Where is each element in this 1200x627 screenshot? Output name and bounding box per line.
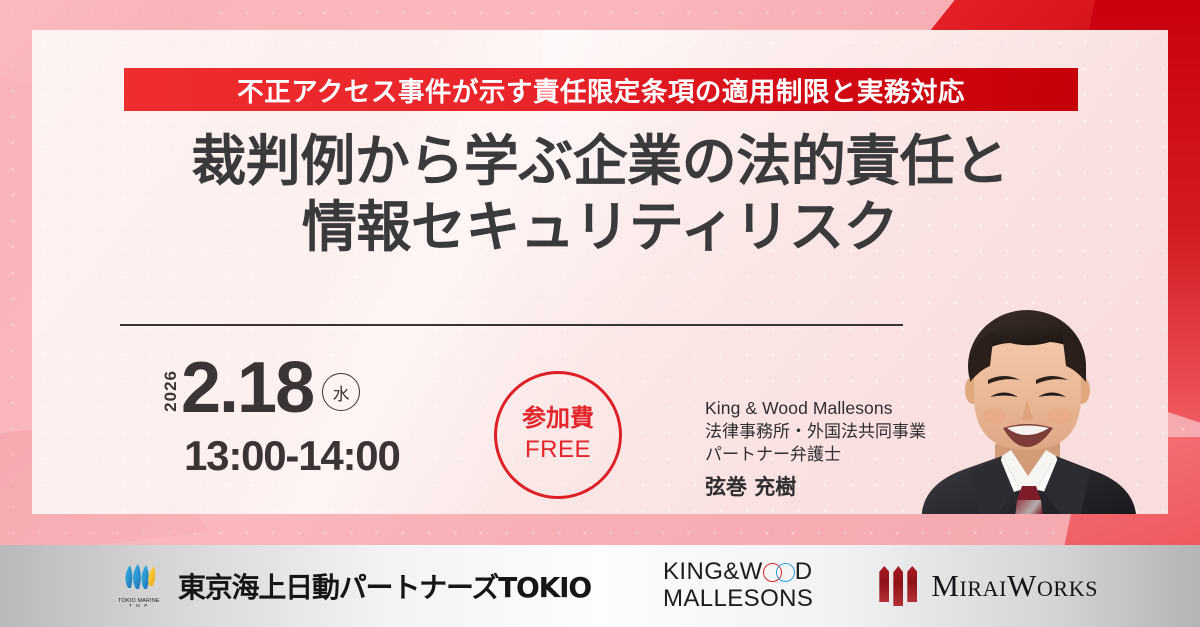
page-title: 裁判例から学ぶ企業の法的責任と 情報セキュリティリスク [32,128,1168,260]
fee-badge: 参加費 FREE [494,371,622,499]
event-day-of-week-badge: 水 [322,373,360,411]
page-title-line-1: 裁判例から学ぶ企業の法的責任と [191,129,1009,193]
subtitle-banner: 不正アクセス事件が示す責任限定条項の適用制限と実務対応 [124,68,1078,111]
fee-badge-value: FREE [525,436,591,465]
kwm-line-1-suffix: D [795,559,813,586]
fee-badge-label: 参加費 [522,405,594,433]
partner-logo-bar: TOKIO MARINE T N P 東京海上日動パートナーズTOKIO KIN… [0,545,1200,627]
mirai-pillar-middle [893,566,903,606]
page-title-line-2: 情報セキュリティリスク [32,194,1168,260]
logo-king-wood-mallesons: KING&W D MALLESONS [663,559,813,613]
subtitle-banner-text: 不正アクセス事件が示す責任限定条項の適用制限と実務対応 [237,70,965,109]
mirai-pillar-left [879,566,889,602]
tokio-marine-icon: TOKIO MARINE T N P [110,562,168,610]
logo-mirai-works: MiraiWorks [879,566,1098,606]
event-date-block: 2026 2.18 水 13:00-14:00 [162,348,462,480]
tokio-marine-wordmark: 東京海上日動パートナーズTOKIO [178,566,591,606]
event-date: 2.18 [181,358,313,420]
event-year: 2026 [162,370,179,412]
webinar-poster: 不正アクセス事件が示す責任限定条項の適用制限と実務対応 裁判例から学ぶ企業の法的… [0,0,1200,627]
mirai-works-pillars-icon [879,566,917,606]
kwm-line-2: MALLESONS [663,586,813,613]
event-time: 13:00-14:00 [184,432,462,480]
event-date-row: 2026 2.18 水 [162,348,462,420]
tokio-marine-mark-line-2: T N P [110,605,168,610]
content-panel: 不正アクセス事件が示す責任限定条項の適用制限と実務対応 裁判例から学ぶ企業の法的… [32,30,1168,514]
mirai-works-wordmark: MiraiWorks [931,568,1098,604]
speaker-portrait [910,304,1142,514]
kwm-line-1: KING&W D [663,559,813,586]
mirai-pillar-right [907,566,917,602]
kwm-circle-blue-icon [776,563,795,582]
kwm-line-1-text: KING&W [663,559,763,586]
logo-tokio-marine: TOKIO MARINE T N P 東京海上日動パートナーズTOKIO [110,562,591,610]
divider-rule [120,324,903,326]
